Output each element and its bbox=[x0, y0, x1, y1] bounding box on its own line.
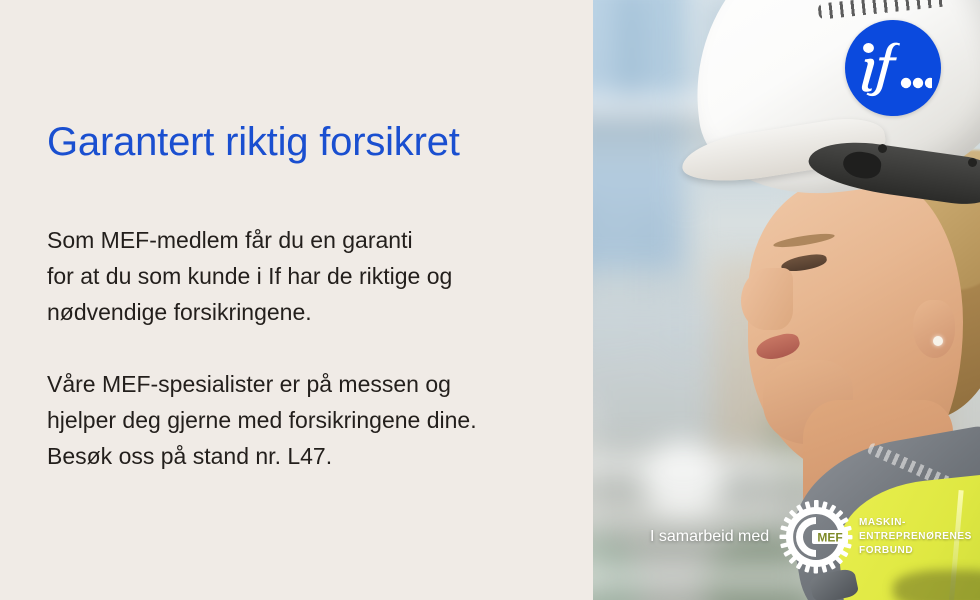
hero-photo: I samarbeid med bbox=[593, 0, 980, 600]
mef-logo: MEF bbox=[779, 500, 853, 574]
page-title: Garantert riktig forsikret bbox=[47, 120, 460, 165]
body-copy: Som MEF-medlem får du en garanti for at … bbox=[47, 222, 567, 474]
paragraph-2: Våre MEF-spesialister er på messen og hj… bbox=[47, 366, 567, 474]
if-logo bbox=[845, 20, 941, 116]
mef-name-line-3: FORBUND bbox=[859, 544, 972, 558]
paragraph-2-line-2: hjelper deg gjerne med forsikringene din… bbox=[47, 402, 567, 438]
paragraph-1: Som MEF-medlem får du en garanti for at … bbox=[47, 222, 567, 330]
insurance-ad-banner: Garantert riktig forsikret Som MEF-medle… bbox=[0, 0, 980, 600]
mef-name-line-1: MASKIN- bbox=[859, 516, 972, 530]
paragraph-2-line-1: Våre MEF-spesialister er på messen og bbox=[47, 366, 567, 402]
paragraph-1-line-1: Som MEF-medlem får du en garanti bbox=[47, 222, 567, 258]
earring bbox=[933, 336, 943, 346]
paragraph-1-line-2: for at du som kunde i If har de riktige … bbox=[47, 258, 567, 294]
mef-mark-text: MEF bbox=[817, 530, 842, 544]
paragraph-1-line-3: nødvendige forsikringene. bbox=[47, 294, 567, 330]
mef-organization-name: MASKIN- ENTREPRENØRENES FORBUND bbox=[859, 516, 972, 558]
partnership-footer: I samarbeid med bbox=[593, 490, 980, 600]
mef-name-line-2: ENTREPRENØRENES bbox=[859, 530, 972, 544]
text-panel: Garantert riktig forsikret Som MEF-medle… bbox=[0, 0, 593, 600]
paragraph-2-line-3: Besøk oss på stand nr. L47. bbox=[47, 438, 567, 474]
helmet-rivet bbox=[968, 158, 977, 167]
ear bbox=[913, 300, 955, 358]
helmet-rivet bbox=[878, 144, 887, 153]
nose bbox=[741, 268, 793, 330]
partnership-label: I samarbeid med bbox=[650, 528, 769, 546]
